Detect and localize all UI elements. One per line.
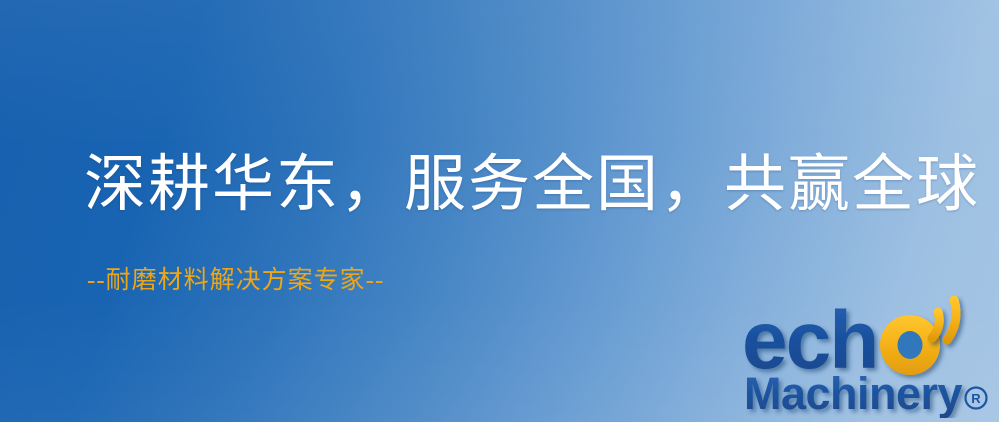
logo-letter-o (880, 315, 940, 375)
svg-text:R: R (971, 391, 981, 406)
page-title: 深耕华东，服务全国，共赢全球 (84, 152, 980, 219)
signal-waves-icon (932, 300, 956, 340)
page-subtitle: --耐磨材料解决方案专家-- (87, 266, 384, 296)
logo-tagline: Machinery (744, 368, 963, 418)
echo-machinery-logo[interactable]: ech Machinery R (742, 296, 996, 418)
hero-banner: 深耕华东，服务全国，共赢全球 --耐磨材料解决方案专家-- (0, 0, 999, 422)
registered-trademark-icon: R (966, 388, 987, 409)
svg-text:Machinery: Machinery (744, 368, 963, 418)
